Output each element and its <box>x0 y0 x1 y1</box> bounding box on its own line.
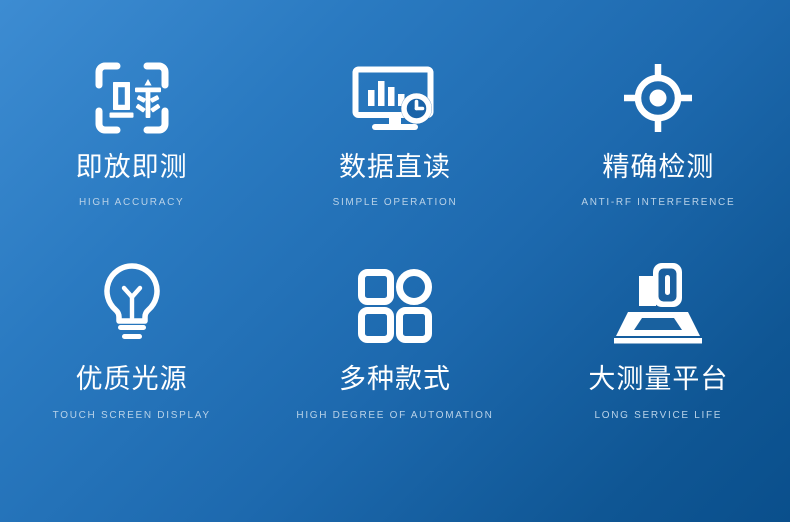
feature-item-anti-rf-interference: 精确检测 ANTI-RF INTERFERENCE <box>527 48 790 258</box>
feature-item-long-service-life: 大测量平台 LONG SERVICE LIFE <box>527 258 790 473</box>
feature-item-high-degree-automation: 多种款式 HIGH DEGREE OF AUTOMATION <box>263 258 526 473</box>
feature-subtitle: TOUCH SCREEN DISPLAY <box>53 411 211 421</box>
feature-title: 即放即测 <box>76 154 188 181</box>
feature-item-simple-operation: 数据直读 SIMPLE OPERATION <box>263 48 526 258</box>
feature-banner: 即放即测 HIGH ACCURACY <box>0 0 790 522</box>
feature-subtitle: HIGH DEGREE OF AUTOMATION <box>296 411 493 421</box>
feature-title: 多种款式 <box>339 366 451 393</box>
feature-item-touch-screen-display: 优质光源 TOUCH SCREEN DISPLAY <box>0 258 263 473</box>
crosshair-target-icon <box>619 48 697 136</box>
feature-subtitle: LONG SERVICE LIFE <box>595 411 723 421</box>
monitor-bar-chart-clock-icon <box>351 48 439 136</box>
bottom-spacer <box>0 473 790 522</box>
feature-title: 大测量平台 <box>588 366 728 393</box>
feature-grid: 即放即测 HIGH ACCURACY <box>0 0 790 522</box>
feature-title: 精确检测 <box>602 154 714 181</box>
light-bulb-icon <box>97 258 167 346</box>
scan-frame-inspect-icon <box>93 48 171 136</box>
feature-subtitle: SIMPLE OPERATION <box>333 198 458 208</box>
feature-title: 优质光源 <box>76 366 188 393</box>
grid-squares-circle-icon <box>355 258 435 346</box>
feature-item-high-accuracy: 即放即测 HIGH ACCURACY <box>0 48 263 258</box>
top-spacer <box>0 0 790 48</box>
measuring-platform-icon <box>612 258 704 346</box>
feature-subtitle: ANTI-RF INTERFERENCE <box>581 198 735 208</box>
feature-subtitle: HIGH ACCURACY <box>79 198 184 208</box>
feature-title: 数据直读 <box>339 154 451 181</box>
